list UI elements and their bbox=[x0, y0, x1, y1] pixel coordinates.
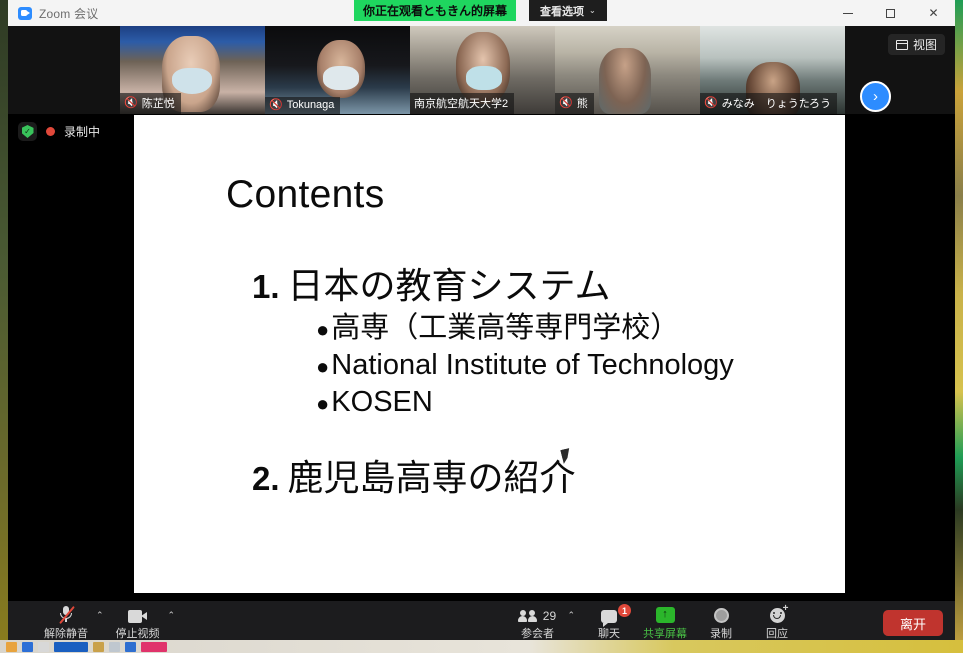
taskbar-app-icon[interactable] bbox=[141, 642, 167, 652]
participant-name-tag: 🔇 陈芷悦 bbox=[120, 93, 181, 114]
chat-bubble-icon bbox=[601, 606, 617, 623]
shield-check-glyph: ✓ bbox=[22, 125, 34, 138]
audio-options-chevron-up-icon[interactable]: ⌃ bbox=[94, 610, 110, 637]
shared-screen-area: ✓ 录制中 Contents 1. 日本の教育システム ● 高専（工業高等専門学… bbox=[8, 114, 955, 601]
view-options-label: 查看选项 bbox=[540, 3, 584, 19]
view-layout-label: 视图 bbox=[913, 36, 937, 53]
share-screen-button[interactable]: ↑ 共享屏幕 bbox=[637, 601, 693, 645]
video-tile[interactable]: 南京航空航天大学2 bbox=[410, 26, 555, 114]
leave-meeting-label: 离开 bbox=[900, 614, 926, 633]
video-tile[interactable]: 🔇 みなみ りょうたろう bbox=[700, 26, 845, 114]
participants-button[interactable]: 29 参会者 bbox=[509, 601, 565, 645]
slide-item-1-text: 日本の教育システム bbox=[288, 265, 611, 306]
presentation-slide: Contents 1. 日本の教育システム ● 高専（工業高等専門学校） ● N… bbox=[134, 115, 845, 593]
slide-item-2-number: 2. bbox=[252, 460, 280, 498]
record-circle-icon bbox=[714, 606, 729, 623]
reactions-plus-glyph: + bbox=[783, 604, 789, 614]
participant-video-strip: 🔇 陈芷悦 🔇 Tokunaga 南京航空航天大学2 🔇 熊 bbox=[8, 26, 955, 114]
chat-button-label: 聊天 bbox=[598, 625, 620, 641]
slide-subitem-text: KOSEN bbox=[331, 384, 433, 421]
shield-check-icon: ✓ bbox=[18, 122, 37, 141]
participant-name-tag: 南京航空航天大学2 bbox=[410, 93, 514, 114]
reactions-button[interactable]: + 回应 bbox=[749, 601, 805, 645]
zoom-meeting-window: Zoom 会议 你正在观看ともきん的屏幕 查看选项 ⌄ ✕ 🔇 bbox=[8, 0, 955, 645]
reactions-smiley-icon: + bbox=[770, 606, 785, 623]
slide-item-1-sublist: ● 高専（工業高等専門学校） ● National Institute of T… bbox=[316, 310, 832, 420]
viewing-screen-banner-text: 你正在观看ともきん的屏幕 bbox=[363, 2, 507, 19]
app-title-group: Zoom 会议 bbox=[8, 5, 98, 22]
participant-name-tag: 🔇 熊 bbox=[555, 93, 594, 114]
chevron-right-icon: › bbox=[873, 88, 878, 105]
participants-control-group: 29 参会者 ⌃ bbox=[509, 601, 581, 645]
mic-muted-icon: 🔇 bbox=[704, 98, 718, 109]
chevron-down-icon: ⌄ bbox=[589, 6, 596, 15]
chat-button[interactable]: 1 聊天 bbox=[581, 601, 637, 645]
close-icon: ✕ bbox=[928, 6, 938, 20]
taskbar-app-icon[interactable] bbox=[54, 642, 88, 652]
recording-indicator: ✓ 录制中 bbox=[18, 122, 100, 141]
participants-options-chevron-up-icon[interactable]: ⌃ bbox=[565, 610, 581, 637]
leave-meeting-button[interactable]: 离开 bbox=[883, 610, 943, 636]
participant-name-tag: 🔇 Tokunaga bbox=[265, 97, 340, 114]
taskbar-app-icon[interactable] bbox=[125, 642, 136, 652]
chat-unread-badge: 1 bbox=[618, 604, 631, 617]
mic-muted-icon: 🔇 bbox=[124, 98, 138, 109]
video-tile[interactable]: 🔇 陈芷悦 bbox=[120, 26, 265, 114]
reactions-button-label: 回应 bbox=[766, 625, 788, 641]
record-button-label: 录制 bbox=[710, 625, 732, 641]
viewing-screen-banner: 你正在观看ともきん的屏幕 bbox=[354, 0, 516, 21]
grid-view-icon bbox=[896, 40, 908, 50]
view-layout-button[interactable]: 视图 bbox=[888, 34, 945, 55]
slide-subitem-text: National Institute of Technology bbox=[331, 347, 734, 384]
minimize-icon bbox=[843, 13, 853, 14]
stop-video-button[interactable]: 停止视频 bbox=[110, 601, 166, 645]
mic-muted-icon: 🔇 bbox=[559, 98, 573, 109]
share-screen-button-label: 共享屏幕 bbox=[643, 625, 687, 641]
meeting-control-bar: 解除静音 ⌃ 停止视频 ⌃ 29 bbox=[8, 601, 955, 645]
mute-control-group: 解除静音 ⌃ bbox=[38, 601, 110, 645]
video-control-group: 停止视频 ⌃ bbox=[110, 601, 182, 645]
window-title-bar: Zoom 会议 你正在观看ともきん的屏幕 查看选项 ⌄ ✕ bbox=[8, 0, 955, 26]
participant-name: 南京航空航天大学2 bbox=[414, 95, 508, 111]
participants-count: 29 bbox=[543, 609, 556, 623]
participant-name: 陈芷悦 bbox=[142, 95, 175, 111]
taskbar-app-icon[interactable] bbox=[22, 642, 33, 652]
slide-body: 1. 日本の教育システム ● 高専（工業高等専門学校） ● National I… bbox=[252, 265, 832, 421]
view-options-button[interactable]: 查看选项 ⌄ bbox=[529, 0, 607, 21]
slide-subitem-text: 高専（工業高等専門学校） bbox=[331, 310, 679, 347]
next-participants-page-button[interactable]: › bbox=[860, 81, 891, 112]
window-controls: ✕ bbox=[826, 0, 955, 26]
video-tile[interactable]: 🔇 Tokunaga bbox=[265, 26, 410, 114]
bullet-icon: ● bbox=[316, 393, 329, 415]
windows-taskbar[interactable] bbox=[0, 640, 963, 653]
slide-subitem: ● KOSEN bbox=[316, 384, 832, 421]
participants-button-label: 参会者 bbox=[521, 625, 554, 641]
record-button[interactable]: 录制 bbox=[693, 601, 749, 645]
slide-subitem: ● National Institute of Technology bbox=[316, 347, 832, 384]
maximize-button[interactable] bbox=[869, 0, 912, 26]
app-title-text: Zoom 会议 bbox=[39, 5, 98, 22]
bullet-icon: ● bbox=[316, 356, 329, 378]
taskbar-app-icon[interactable] bbox=[38, 642, 49, 652]
minimize-button[interactable] bbox=[826, 0, 869, 26]
bullet-icon: ● bbox=[316, 319, 329, 341]
video-tile[interactable]: 🔇 熊 bbox=[555, 26, 700, 114]
recording-label: 录制中 bbox=[64, 123, 100, 140]
mute-button[interactable]: 解除静音 bbox=[38, 601, 94, 645]
participant-name: 熊 bbox=[577, 95, 588, 111]
participant-name: Tokunaga bbox=[287, 99, 335, 111]
participant-name: みなみ りょうたろう bbox=[722, 95, 831, 111]
stop-video-button-label: 停止视频 bbox=[116, 625, 160, 641]
mic-muted-icon: 🔇 bbox=[269, 100, 283, 111]
close-button[interactable]: ✕ bbox=[912, 0, 955, 26]
participant-name-tag: 🔇 みなみ りょうたろう bbox=[700, 93, 837, 114]
video-options-chevron-up-icon[interactable]: ⌃ bbox=[166, 610, 182, 637]
slide-item-1: 1. 日本の教育システム bbox=[252, 265, 832, 306]
mute-button-label: 解除静音 bbox=[44, 625, 88, 641]
record-dot-icon bbox=[46, 127, 55, 136]
maximize-icon bbox=[886, 9, 895, 18]
share-screen-icon: ↑ bbox=[656, 606, 675, 623]
share-screen-arrow-glyph: ↑ bbox=[656, 607, 675, 623]
slide-item-2-text: 鹿児島高専の紹介 bbox=[288, 449, 576, 501]
slide-subitem: ● 高専（工業高等専門学校） bbox=[316, 310, 832, 347]
mic-muted-icon bbox=[58, 606, 74, 623]
taskbar-app-icon[interactable] bbox=[6, 642, 17, 652]
people-icon: 29 bbox=[519, 606, 556, 623]
zoom-logo-icon bbox=[18, 7, 32, 20]
taskbar-app-icon[interactable] bbox=[93, 642, 104, 652]
slide-title: Contents bbox=[226, 173, 385, 217]
slide-item-1-number: 1. bbox=[252, 268, 280, 306]
camera-icon bbox=[128, 606, 148, 623]
slide-item-2: 2. 鹿児島高専の紹介 bbox=[252, 449, 576, 501]
taskbar-app-icon[interactable] bbox=[109, 642, 120, 652]
